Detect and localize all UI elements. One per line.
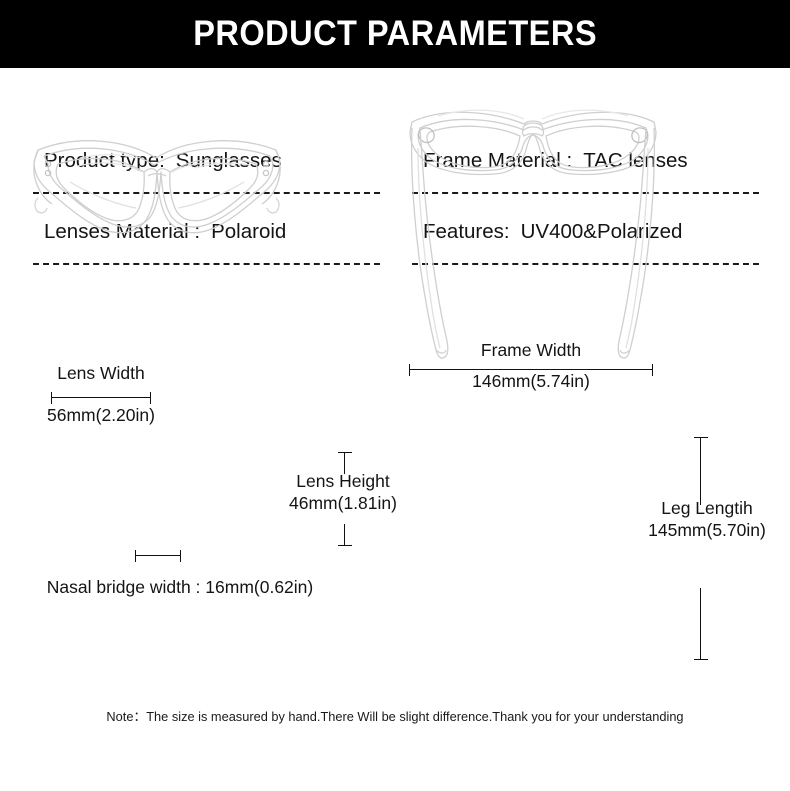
nasal-bridge-label: Nasal bridge width : 16mm(0.62in) [30,576,330,598]
frame-width-label: Frame Width [409,339,653,361]
sunglasses-front-view [18,128,298,253]
leg-length-dimension-line-bottom [694,588,708,660]
lens-width-dimension-line [51,392,151,404]
lens-width-label: Lens Width [51,362,151,384]
lens-width-value: 56mm(2.20in) [36,404,166,426]
footer-note: Note：The size is measured by hand.There … [12,706,778,725]
frame-width-value: 146mm(5.74in) [409,370,653,392]
lens-height-dimension-line-bottom [338,524,352,546]
header-bar: PRODUCT PARAMETERS [0,0,790,68]
lens-height-label: Lens Height 46mm(1.81in) [287,470,399,514]
divider-dashed [33,263,380,265]
leg-length-dimension-line-top [694,437,708,505]
leg-length-label: Leg Lengtih 145mm(5.70in) [632,497,782,541]
nasal-bridge-dimension-line [135,550,181,562]
page-title: PRODUCT PARAMETERS [193,14,597,54]
